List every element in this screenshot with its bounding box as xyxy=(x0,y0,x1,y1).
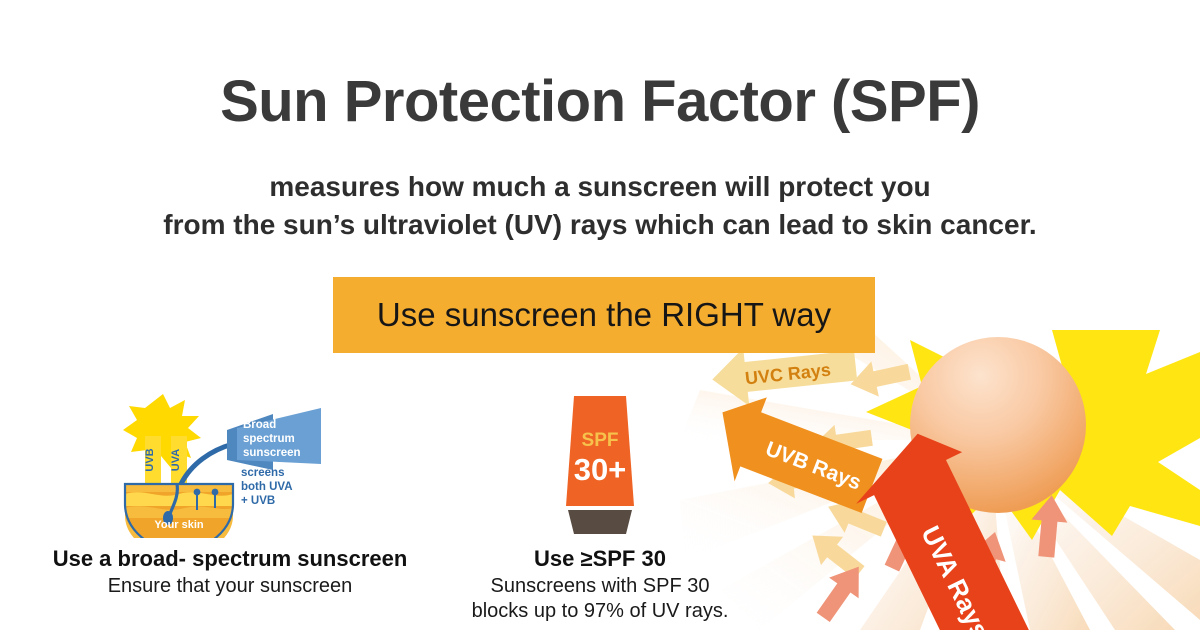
broad-spectrum-note: screens both UVA + UVB xyxy=(241,467,293,507)
tube-body xyxy=(566,396,634,506)
small-sun-icon xyxy=(123,394,201,468)
tip-spf-body-line-2: blocks up to 97% of UV rays. xyxy=(420,599,780,624)
banner-line-3: sunscreen xyxy=(243,447,301,459)
tip-broad-heading-line-2: spectrum sunscreen xyxy=(192,546,407,571)
tube-value-label: 30+ xyxy=(574,452,627,487)
page-title: Sun Protection Factor (SPF) xyxy=(0,72,1200,133)
page-subtitle: measures how much a sunscreen will prote… xyxy=(0,168,1200,244)
tip-broad-body: Ensure that your sunscreen xyxy=(40,574,420,599)
tip-spf-caption: Use ≥SPF 30 Sunscreens with SPF 30 block… xyxy=(420,546,780,624)
tip-broad-caption: Use a broad- spectrum sunscreen Ensure t… xyxy=(40,546,420,599)
tip-broad-body-line-1: Ensure that your sunscreen xyxy=(40,574,420,599)
skin-layers: Your skin xyxy=(125,484,233,538)
tip-broad-heading-line-1: Use a broad- xyxy=(53,546,186,571)
tip-spf-body-line-1: Sunscreens with SPF 30 xyxy=(420,574,780,599)
uva-beam-label: UVA xyxy=(170,449,182,471)
subtitle-line-2: from the sun’s ultraviolet (UV) rays whi… xyxy=(0,206,1200,244)
note-line-1: screens xyxy=(241,467,284,479)
banner-label: Use sunscreen the RIGHT way xyxy=(377,296,831,334)
tip-spf-30: SPF 30+ Use ≥SPF 30 Sunscreens with SPF … xyxy=(420,388,780,624)
tip-spf-heading: Use ≥SPF 30 xyxy=(420,546,780,572)
tube-cap xyxy=(568,510,632,534)
broad-spectrum-banner: Broad spectrum sunscreen xyxy=(227,408,321,470)
subtitle-line-1: measures how much a sunscreen will prote… xyxy=(0,168,1200,206)
tip-spf-body: Sunscreens with SPF 30 blocks up to 97% … xyxy=(420,574,780,624)
your-skin-label: Your skin xyxy=(154,519,204,531)
tip-broad-spectrum: UVB UVA Your skin xyxy=(40,388,420,599)
banner-line-2: spectrum xyxy=(243,433,295,445)
tip-broad-heading: Use a broad- spectrum sunscreen xyxy=(40,546,420,572)
tip-spf-heading-line-1: Use ≥SPF 30 xyxy=(534,546,666,571)
uvb-beam-label: UVB xyxy=(144,448,156,471)
tube-spf-label: SPF xyxy=(582,430,619,451)
note-line-2: both UVA xyxy=(241,481,293,493)
skin-cross-section-diagram: UVB UVA Your skin xyxy=(115,388,345,538)
sunscreen-stream xyxy=(181,444,233,484)
infographic-page: UVC Rays UVB Rays UVA Rays Sun Protectio… xyxy=(0,0,1200,630)
sunscreen-tube-icon: SPF 30+ xyxy=(540,388,660,538)
use-sunscreen-banner: Use sunscreen the RIGHT way xyxy=(333,277,875,353)
note-line-3: + UVB xyxy=(241,495,275,507)
banner-line-1: Broad xyxy=(243,419,276,431)
